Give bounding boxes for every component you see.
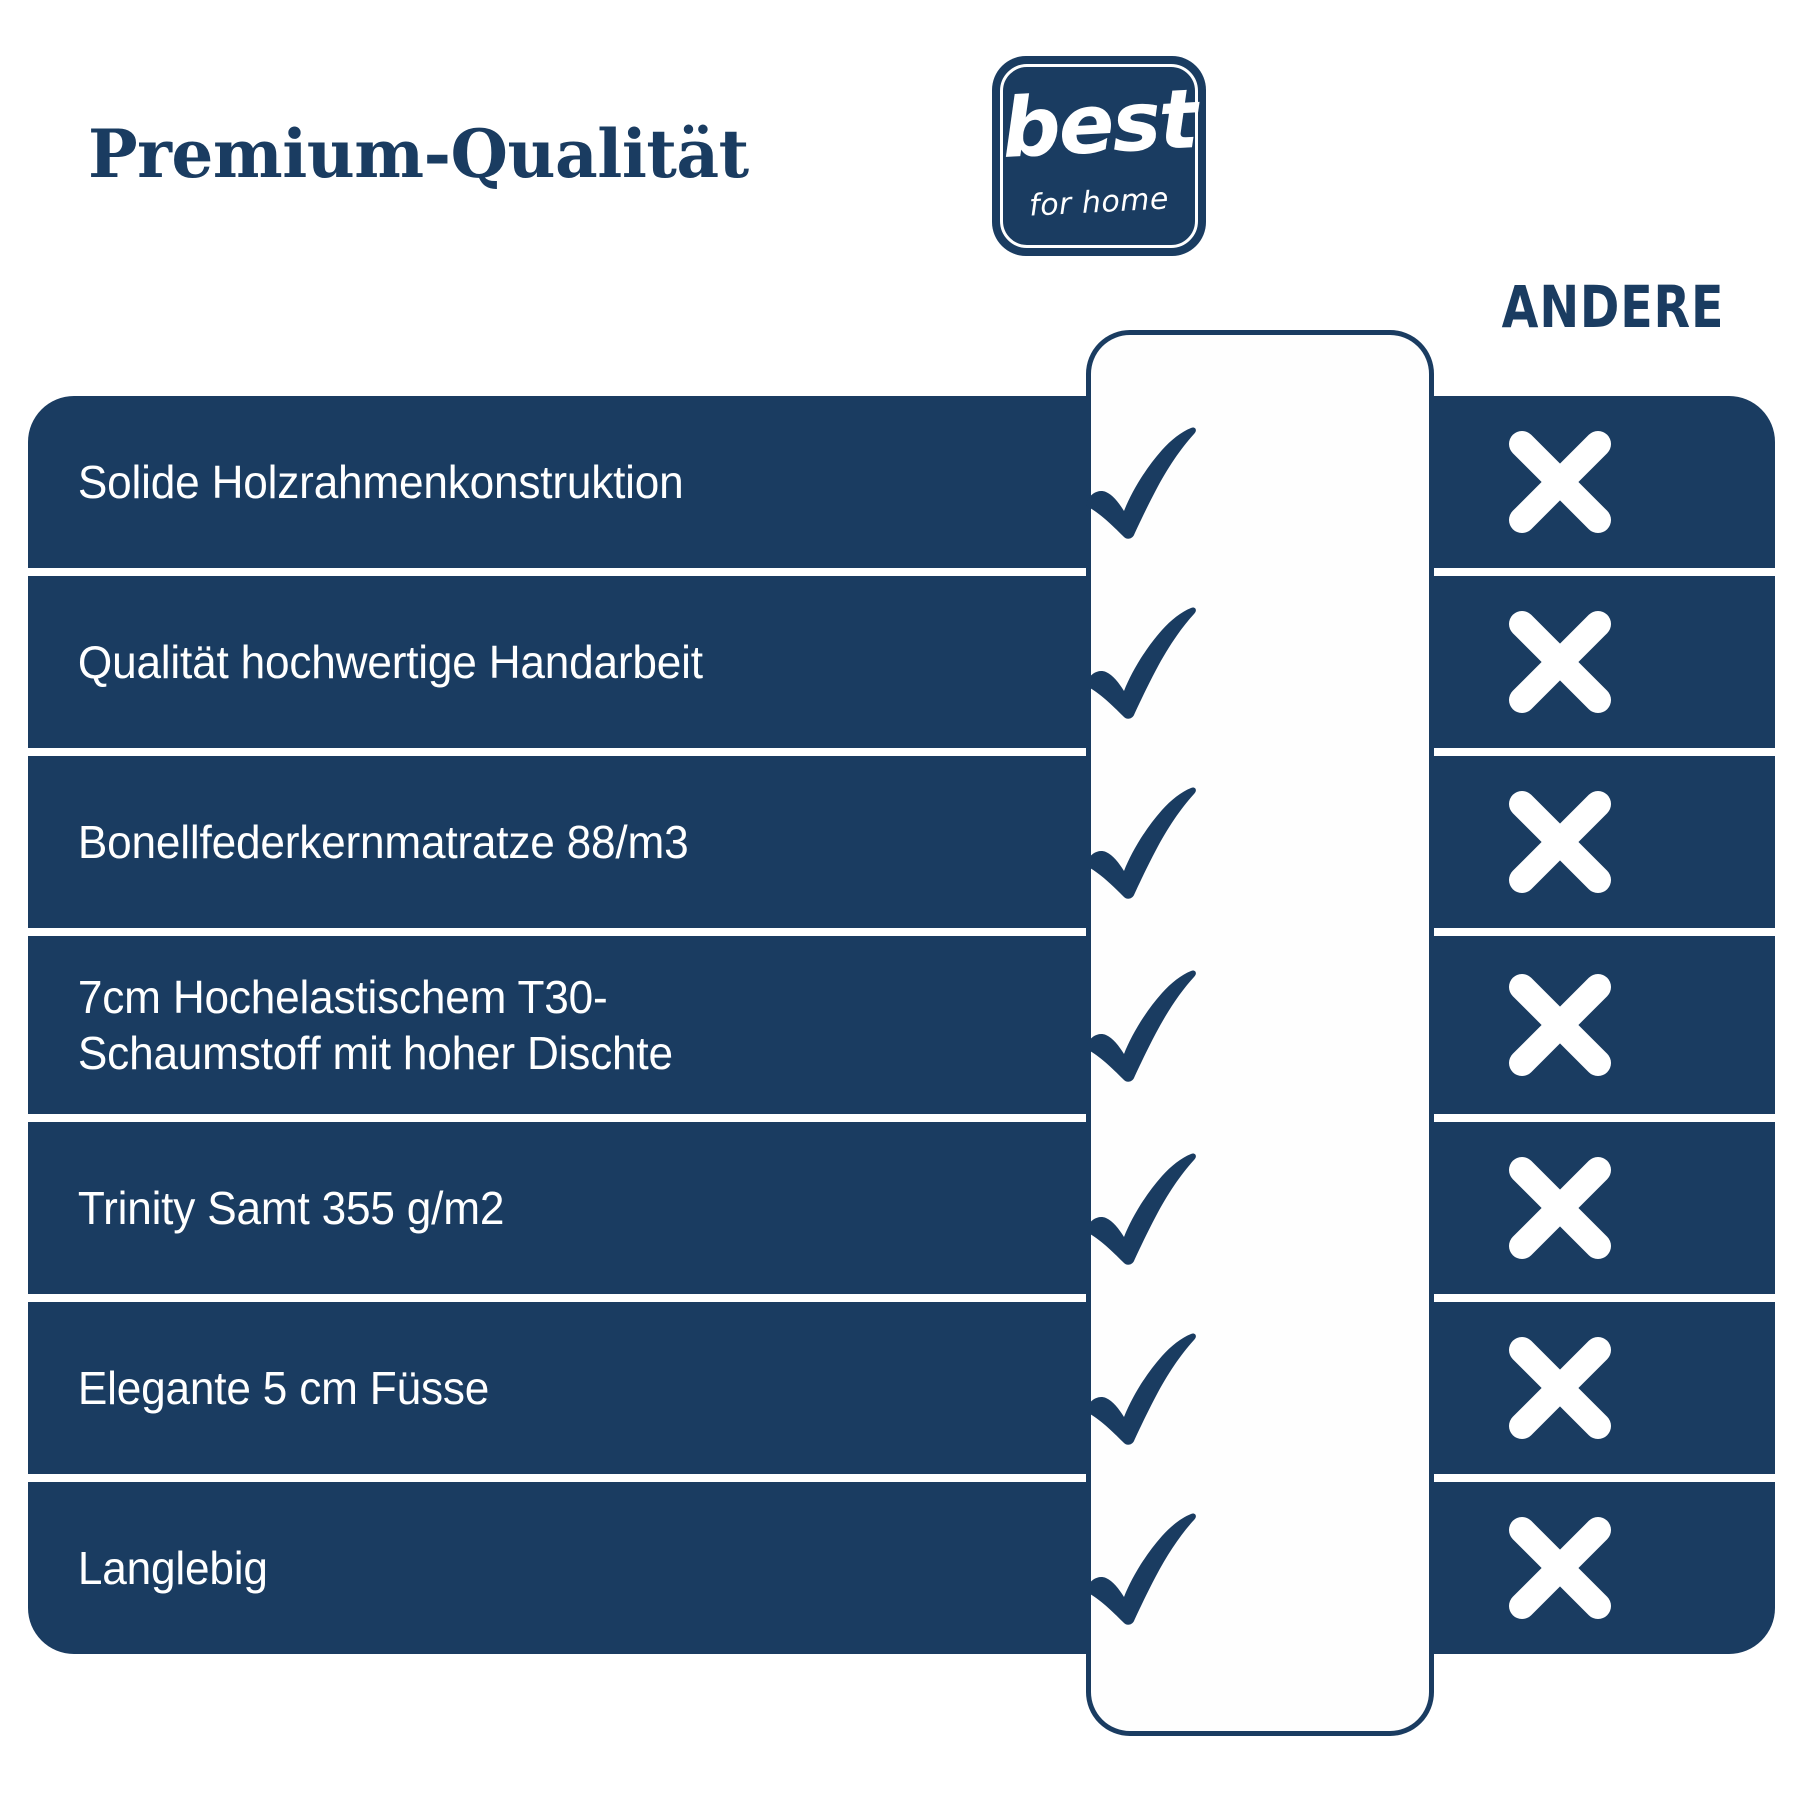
best-column-cell: [908, 1329, 1373, 1447]
others-column-cell: [1373, 606, 1775, 718]
row-feature-label: Bonellfederkernmatratze 88/m3: [28, 814, 873, 870]
best-column-cell: [908, 783, 1373, 901]
cross-icon: [1504, 786, 1616, 898]
check-icon: [1077, 603, 1205, 721]
others-column-cell: [1373, 1512, 1775, 1624]
best-column-cell: [908, 1149, 1373, 1267]
cross-icon: [1504, 426, 1616, 538]
table-row: Langlebig: [28, 1482, 1775, 1654]
table-row: Trinity Samt 355 g/m2: [28, 1122, 1775, 1294]
row-feature-label: Langlebig: [28, 1540, 873, 1596]
check-icon: [1077, 1149, 1205, 1267]
table-row: 7cm Hochelastischem T30- Schaumstoff mit…: [28, 936, 1775, 1114]
table-row: Elegante 5 cm Füsse: [28, 1302, 1775, 1474]
row-feature-label: Solide Holzrahmenkonstruktion: [28, 454, 873, 510]
cross-icon: [1504, 606, 1616, 718]
check-icon: [1077, 966, 1205, 1084]
others-column-cell: [1373, 969, 1775, 1081]
row-feature-label: Trinity Samt 355 g/m2: [28, 1180, 873, 1236]
check-icon: [1077, 783, 1205, 901]
row-feature-label: Elegante 5 cm Füsse: [28, 1360, 873, 1416]
row-feature-label: Qualität hochwertige Handarbeit: [28, 634, 873, 690]
row-feature-label: 7cm Hochelastischem T30- Schaumstoff mit…: [28, 969, 873, 1081]
comparison-infographic: Premium-Qualität best for home ANDERE So…: [0, 0, 1800, 1800]
competitor-column-heading: ANDERE: [1478, 278, 1749, 336]
table-row: Solide Holzrahmenkonstruktion: [28, 396, 1775, 568]
best-column-cell: [908, 1509, 1373, 1627]
others-column-cell: [1373, 786, 1775, 898]
table-row: Bonellfederkernmatratze 88/m3: [28, 756, 1775, 928]
check-icon: [1077, 423, 1205, 541]
check-icon: [1077, 1329, 1205, 1447]
best-column-cell: [908, 603, 1373, 721]
check-icon: [1077, 1509, 1205, 1627]
table-row: Qualität hochwertige Handarbeit: [28, 576, 1775, 748]
best-column-cell: [908, 966, 1373, 1084]
brand-logo: best for home: [992, 56, 1206, 256]
others-column-cell: [1373, 1332, 1775, 1444]
best-column-cell: [908, 423, 1373, 541]
others-column-cell: [1373, 1152, 1775, 1264]
cross-icon: [1504, 1332, 1616, 1444]
logo-primary-text: best: [990, 78, 1208, 171]
page-title: Premium-Qualität: [88, 120, 848, 189]
others-column-cell: [1373, 426, 1775, 538]
comparison-rows: Solide HolzrahmenkonstruktionQualität ho…: [28, 396, 1775, 1654]
cross-icon: [1504, 1152, 1616, 1264]
cross-icon: [1504, 969, 1616, 1081]
cross-icon: [1504, 1512, 1616, 1624]
